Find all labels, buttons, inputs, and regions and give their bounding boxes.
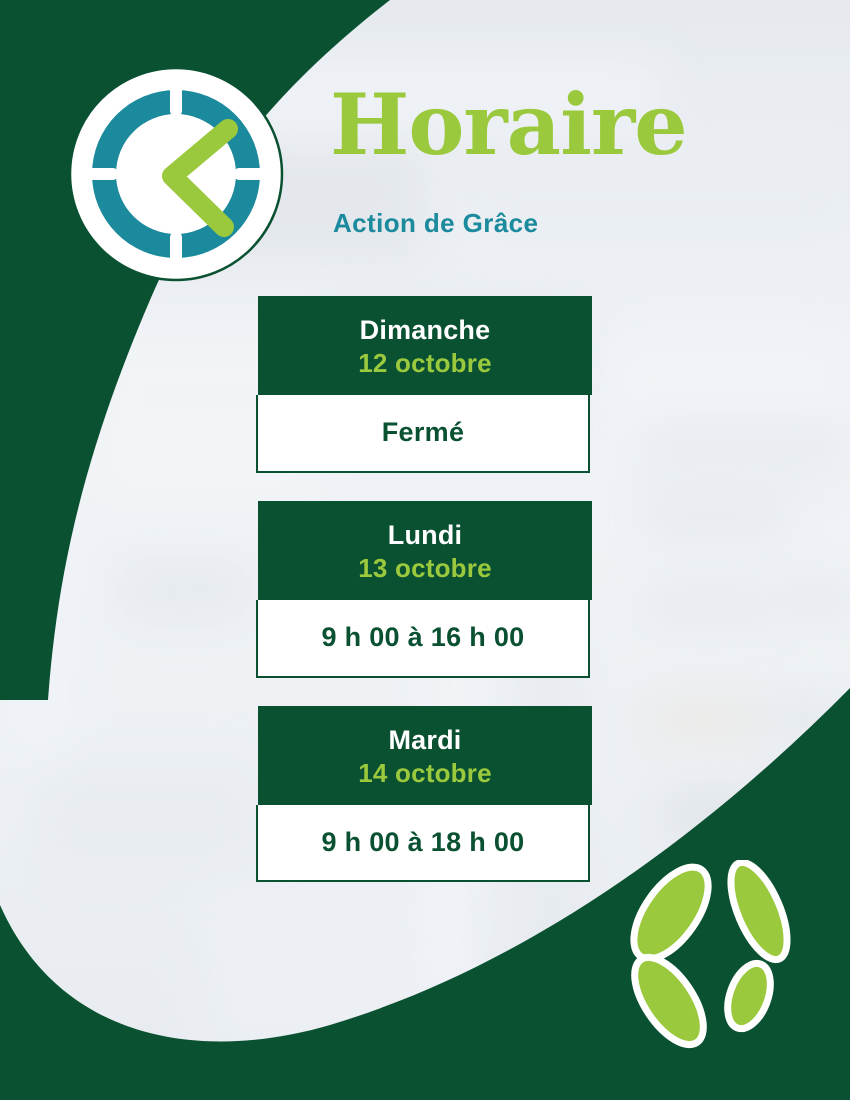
schedule-hours: Fermé — [266, 416, 580, 448]
page-title: Horaire — [330, 83, 687, 167]
schedule-card: Dimanche 12 octobre Fermé — [258, 296, 592, 473]
schedule-card-body: 9 h 00 à 18 h 00 — [256, 805, 590, 882]
clock-icon — [68, 66, 284, 282]
schedule-card-body: 9 h 00 à 16 h 00 — [256, 600, 590, 677]
schedule-hours: 9 h 00 à 18 h 00 — [266, 826, 580, 858]
schedule-card: Mardi 14 octobre 9 h 00 à 18 h 00 — [258, 706, 592, 883]
schedule-poster: Horaire Action de Grâce Dimanche 12 octo… — [0, 0, 850, 1100]
schedule-card-header: Dimanche 12 octobre — [258, 296, 592, 395]
schedule-day: Lundi — [268, 519, 582, 552]
schedule-card-header: Lundi 13 octobre — [258, 501, 592, 600]
schedule-list: Dimanche 12 octobre Fermé Lundi 13 octob… — [0, 296, 850, 910]
schedule-day: Dimanche — [268, 314, 582, 347]
schedule-card: Lundi 13 octobre 9 h 00 à 16 h 00 — [258, 501, 592, 678]
schedule-date: 13 octobre — [268, 552, 582, 585]
schedule-card-body: Fermé — [256, 395, 590, 472]
page-subtitle: Action de Grâce — [333, 208, 538, 239]
schedule-day: Mardi — [268, 724, 582, 757]
schedule-date: 12 octobre — [268, 347, 582, 380]
schedule-date: 14 octobre — [268, 757, 582, 790]
schedule-hours: 9 h 00 à 16 h 00 — [266, 621, 580, 653]
schedule-card-header: Mardi 14 octobre — [258, 706, 592, 805]
butterfly-logo-icon — [615, 860, 815, 1055]
